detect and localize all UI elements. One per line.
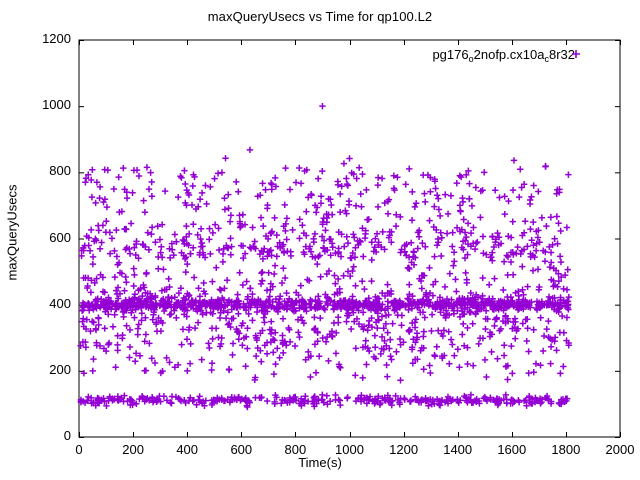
x-tick-label: 1200 (374, 442, 434, 457)
x-tick-label: 600 (211, 442, 271, 457)
plot-canvas (0, 0, 640, 480)
x-tick-label: 0 (49, 442, 109, 457)
y-tick-label: 1200 (11, 31, 71, 46)
x-tick-label: 1800 (536, 442, 596, 457)
y-tick-label: 600 (11, 230, 71, 245)
x-tick-label: 1000 (320, 442, 380, 457)
scatter-points (77, 103, 572, 410)
y-tick-label: 200 (11, 362, 71, 377)
y-tick-label: 0 (11, 428, 71, 443)
y-tick-label: 800 (11, 163, 71, 178)
x-tick-label: 800 (265, 442, 325, 457)
y-tick-label: 400 (11, 296, 71, 311)
x-tick-label: 200 (103, 442, 163, 457)
legend-marker (572, 50, 580, 58)
y-tick-label: 1000 (11, 97, 71, 112)
chart-figure: maxQueryUsecs vs Time for qp100.L2 maxQu… (0, 0, 640, 480)
x-tick-label: 1600 (482, 442, 542, 457)
x-tick-label: 400 (157, 442, 217, 457)
x-tick-label: 2000 (590, 442, 640, 457)
x-tick-label: 1400 (428, 442, 488, 457)
